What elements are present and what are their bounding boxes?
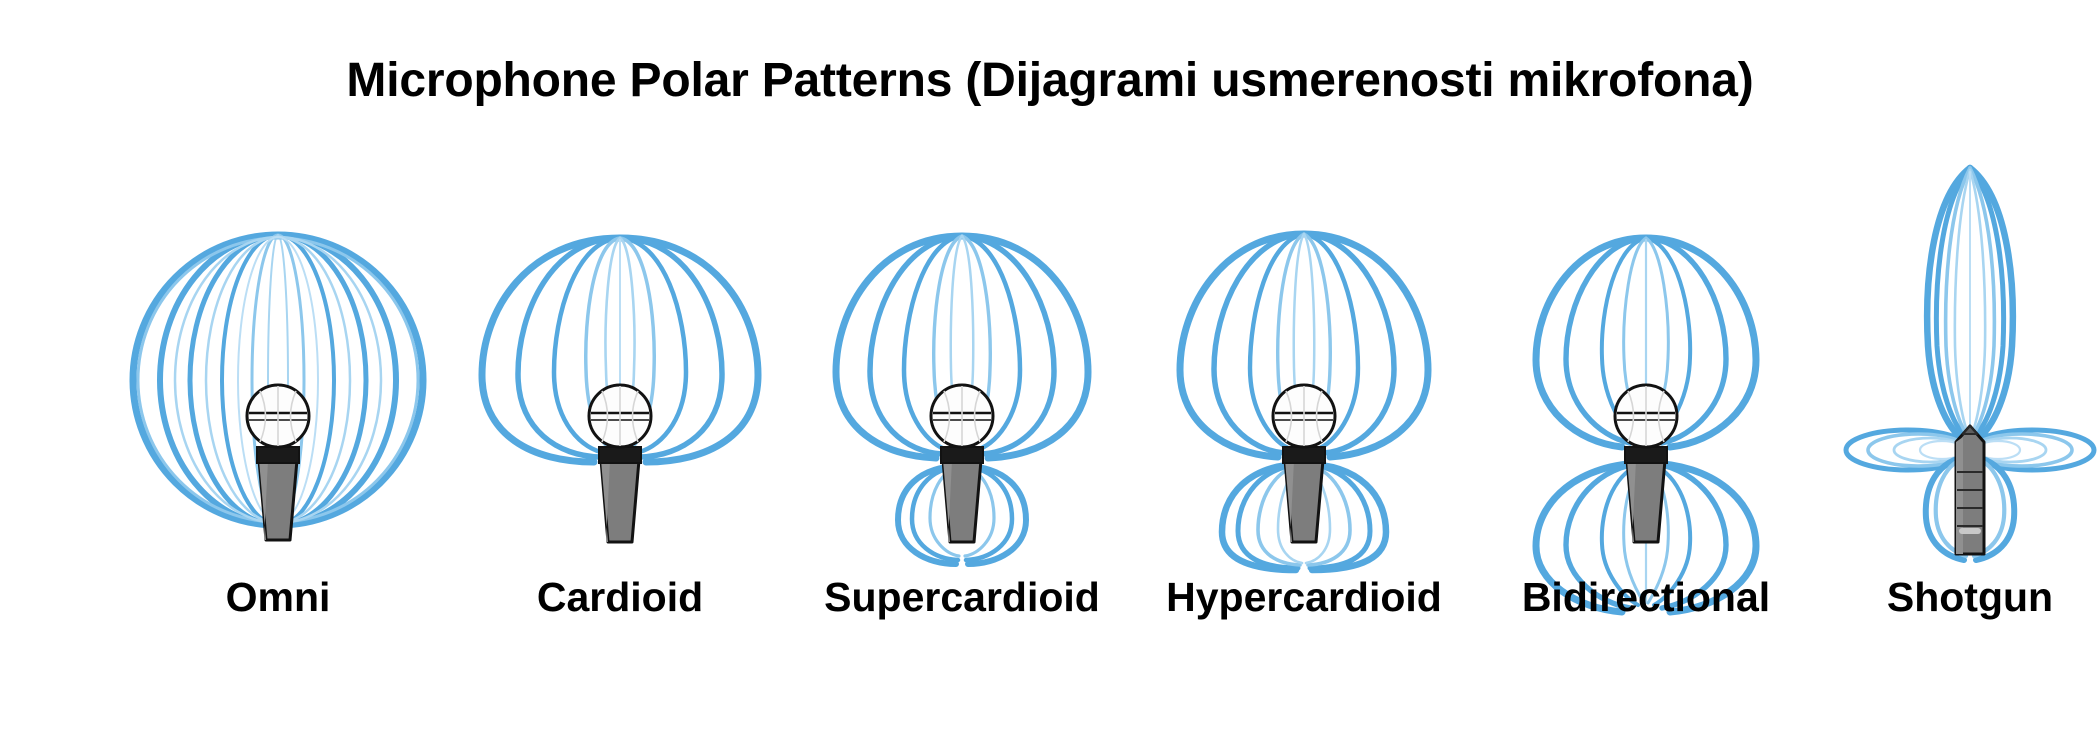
polar-diagram-supercardioid — [792, 150, 1132, 570]
microphone-glyph-shotgun — [1956, 426, 1984, 554]
panel-shotgun[interactable]: Shotgun — [1800, 150, 2100, 750]
polar-diagram-omni — [108, 150, 448, 570]
panel-hypercardioid[interactable]: Hypercardioid — [1134, 150, 1474, 750]
panel-label-shotgun: Shotgun — [1800, 572, 2100, 622]
polar-diagram-hypercardioid — [1134, 150, 1474, 570]
panel-label-bidirectional: Bidirectional — [1476, 572, 1816, 622]
panel-label-supercardioid: Supercardioid — [792, 572, 1132, 622]
panel-cardioid[interactable]: Cardioid — [450, 150, 790, 750]
panel-label-omni: Omni — [108, 572, 448, 622]
polar-diagram-bidirectional — [1476, 150, 1816, 570]
microphone-glyph-supercardioid — [931, 385, 993, 542]
panel-label-hypercardioid: Hypercardioid — [1134, 572, 1474, 622]
polar-diagram-cardioid — [450, 150, 790, 570]
pattern-panel-row: Omni — [0, 150, 2100, 750]
polar-diagram-shotgun — [1800, 150, 2100, 570]
panel-supercardioid[interactable]: Supercardioid — [792, 150, 1132, 750]
poster-canvas: Microphone Polar Patterns (Dijagrami usm… — [0, 0, 2100, 750]
microphone-glyph-hypercardioid — [1273, 385, 1335, 542]
panel-bidirectional[interactable]: Bidirectional — [1476, 150, 1816, 750]
microphone-glyph-cardioid — [589, 385, 651, 542]
page-title: Microphone Polar Patterns (Dijagrami usm… — [0, 52, 2100, 110]
panel-label-cardioid: Cardioid — [450, 572, 790, 622]
panel-omni[interactable]: Omni — [108, 150, 448, 750]
